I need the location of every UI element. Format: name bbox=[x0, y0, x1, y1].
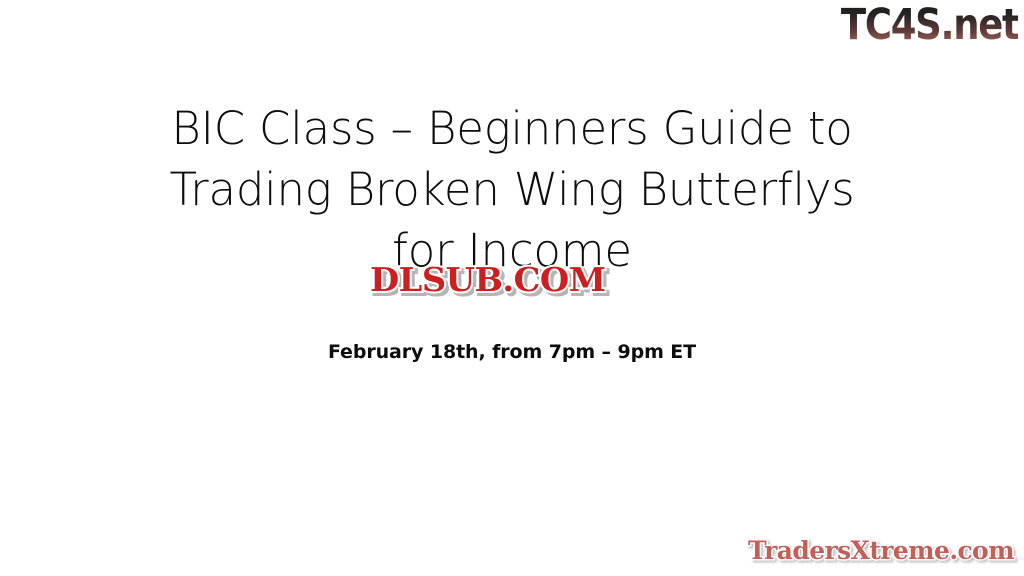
session-datetime: February 18th, from 7pm – 9pm ET bbox=[0, 339, 1024, 365]
watermark-tradersxtreme: TradersXtreme.com bbox=[748, 536, 1014, 566]
watermark-dlsub-label: DLSUB.COM bbox=[370, 260, 605, 299]
title-line-2: Trading Broken Wing Butterflys bbox=[0, 159, 1024, 220]
watermark-tc4s: TC4S.net bbox=[840, 2, 1018, 48]
subtitle: February 18th, from 7pm – 9pm ET bbox=[0, 339, 1024, 365]
title-line-1: BIC Class – Beginners Guide to bbox=[0, 98, 1024, 159]
presentation-slide: BIC Class – Beginners Guide to Trading B… bbox=[0, 0, 1024, 576]
watermark-dlsub: DLSUB.COM bbox=[370, 261, 605, 299]
page-title: BIC Class – Beginners Guide to Trading B… bbox=[0, 98, 1024, 281]
